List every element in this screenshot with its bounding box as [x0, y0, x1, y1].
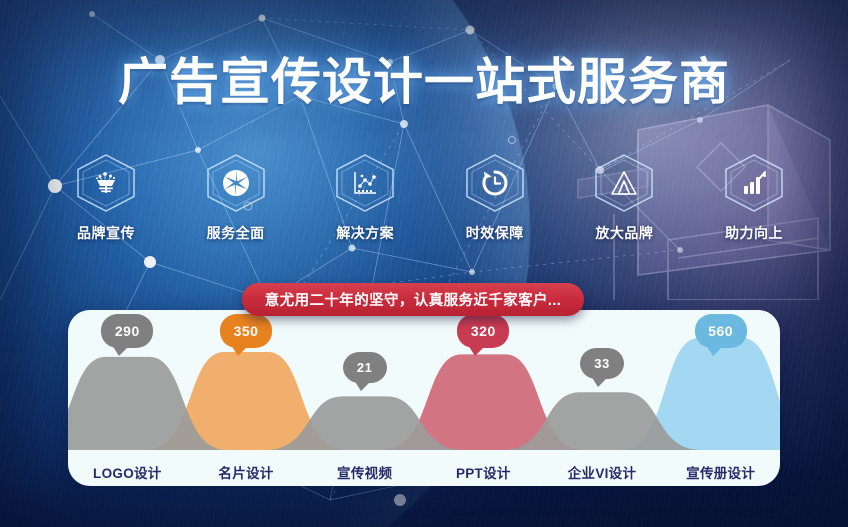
chart-category-label: 宣传视频: [337, 462, 392, 482]
hexagon-frame: [72, 152, 140, 214]
trophy-icon: [91, 168, 121, 198]
hexagon-frame: [590, 152, 658, 214]
chart-category-label: 名片设计: [218, 462, 273, 482]
clock-history-icon: [480, 168, 510, 198]
feature-label: 服务全面: [184, 223, 288, 243]
bar-chart-arrow-icon: [739, 168, 769, 198]
scatter-chart-icon: [350, 168, 380, 198]
promo-banner[interactable]: 意尤用二十年的坚守，认真服务近千家客户...: [242, 283, 584, 316]
chart-category-label: 企业VI设计: [568, 462, 637, 482]
chart-value-text: 350: [234, 323, 259, 339]
promo-banner-text: 意尤用二十年的坚守，认真服务近千家客户...: [265, 289, 561, 310]
chart-value-text: 33: [594, 356, 609, 371]
feature-label: 时效保障: [443, 223, 547, 243]
chart-value-text: 290: [115, 323, 140, 339]
chart-value-bubbles: 2903502132033560: [68, 310, 780, 458]
feature-item-amplify-brand[interactable]: 放大品牌: [572, 152, 676, 243]
feature-item-solutions[interactable]: 解决方案: [313, 152, 417, 243]
feature-item-boost-growth[interactable]: 助力向上: [702, 152, 806, 243]
chart-value-text: 320: [471, 323, 496, 339]
chart-card: 2903502132033560 LOGO设计名片设计宣传视频PPT设计企业VI…: [68, 310, 780, 486]
feature-item-full-service[interactable]: 服务全面: [184, 152, 288, 243]
chart-value-text: 21: [357, 360, 372, 375]
hexagon-frame: [720, 152, 788, 214]
chart-value-bubble: 33: [580, 348, 624, 379]
page-title: 广告宣传设计一站式服务商: [0, 54, 848, 110]
feature-label: 放大品牌: [572, 223, 676, 243]
feature-icon-row: 品牌宣传: [54, 152, 806, 248]
feature-label: 解决方案: [313, 223, 417, 243]
chart-area: 2903502132033560: [68, 310, 780, 458]
chart-category-label: PPT设计: [456, 462, 511, 482]
chart-category-labels: LOGO设计名片设计宣传视频PPT设计企业VI设计宣传册设计: [68, 458, 780, 486]
hexagon-frame: [331, 152, 399, 214]
poster-canvas: 广告宣传设计一站式服务商: [0, 0, 848, 527]
chart-value-bubble: 320: [457, 314, 509, 348]
chart-category-label: LOGO设计: [93, 462, 162, 482]
hexagon-frame: [202, 152, 270, 214]
chart-value-bubble: 560: [695, 314, 747, 348]
feature-item-brand-promotion[interactable]: 品牌宣传: [54, 152, 158, 243]
chart-value-bubble: 290: [101, 314, 153, 348]
aperture-icon: [221, 168, 251, 198]
hexagon-frame: [461, 152, 529, 214]
feature-item-timeliness[interactable]: 时效保障: [443, 152, 547, 243]
chart-value-bubble: 21: [343, 352, 387, 383]
feature-label: 助力向上: [702, 223, 806, 243]
chart-category-label: 宣传册设计: [686, 462, 755, 482]
feature-label: 品牌宣传: [54, 223, 158, 243]
chart-value-bubble: 350: [220, 314, 272, 348]
chart-value-text: 560: [708, 323, 733, 339]
triangle-icon: [609, 168, 639, 198]
